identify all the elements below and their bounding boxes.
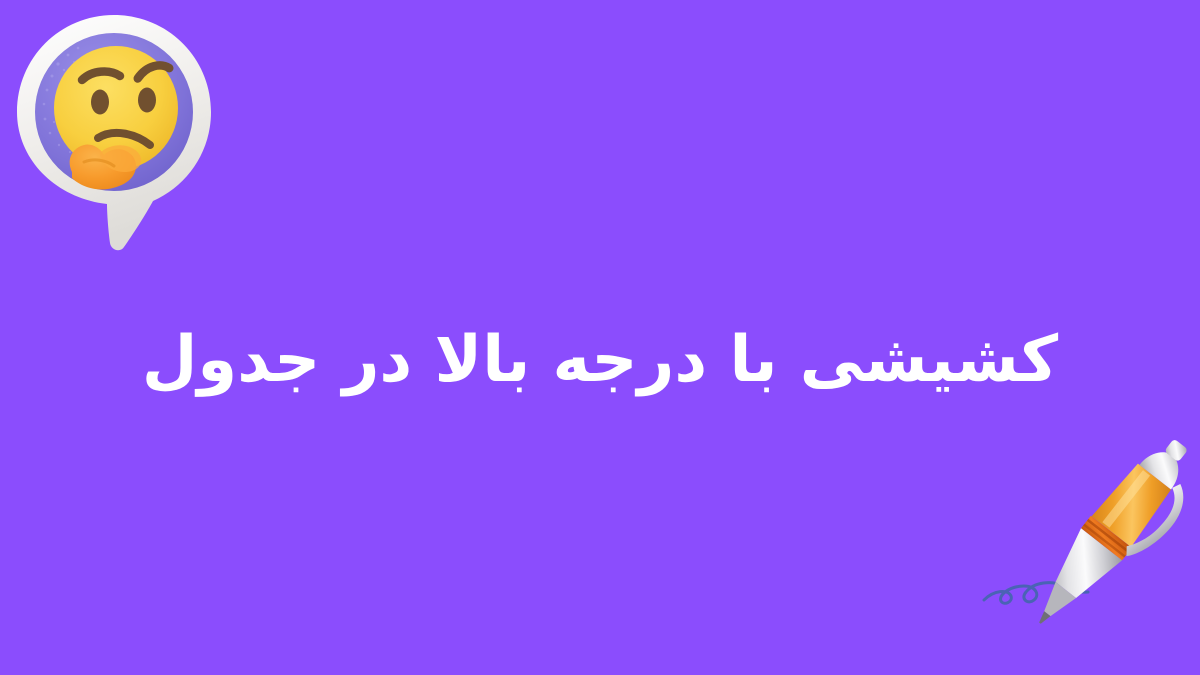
slide-canvas: کشیشی با درجه بالا در جدول [0,0,1200,675]
thinking-face-speech-bubble [14,12,214,250]
page-title: کشیشی با درجه بالا در جدول [142,320,1058,400]
headline-block: کشیشی با درجه بالا در جدول [0,296,1200,424]
pen-emoji [978,462,1190,642]
left-eye [91,90,109,115]
pen-shape [1019,427,1200,650]
right-eye [138,88,156,113]
